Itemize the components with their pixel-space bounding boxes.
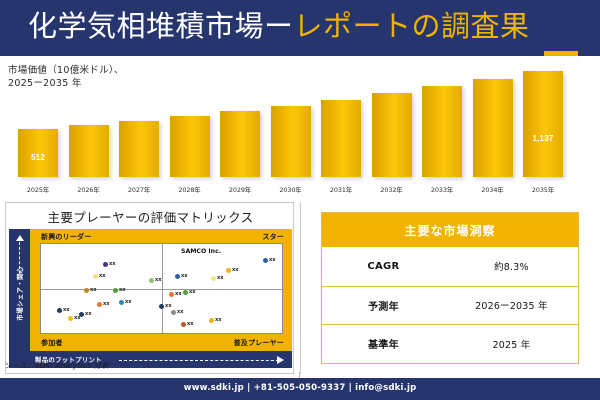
x-axis-tick-label: 2025年 [18,185,58,194]
matrix-horizontal-divider [41,289,282,290]
bar-value-label: 512 [18,153,58,162]
matrix-data-point-label: xx [189,289,195,295]
matrix-data-point [119,300,124,305]
matrix-data-point [175,274,180,279]
matrix-data-point-label: xx [175,291,181,297]
insights-table-row: 基準年2025 年 [322,324,578,363]
x-axis-tick-label: 2028年 [170,185,210,194]
arrow-right-icon [277,356,284,364]
matrix-gold-band: 新興のリーダー スター 参加者 普及プレーヤー SAMCO Inc. xxxxx… [30,229,292,351]
x-axis-dashed-line [119,360,279,361]
bar-column: 2029年 [220,111,260,177]
matrix-data-point-label: xx [103,301,109,307]
page-title-primary: 化学気相堆積市場ー [28,9,294,43]
insights-row-key: 基準年 [322,336,445,351]
insights-row-key: 予測年 [322,298,445,313]
bar-column: 5122025年 [18,129,58,177]
market-value-bar-chart: 市場価値（10億米ドル）、 2025ー2035 年 5122025年2026年2… [0,56,600,196]
bar [220,111,260,177]
matrix-data-point [183,290,188,295]
key-market-insights-panel: 主要な市場洞察 CAGR約8.3%予測年2026ー2035 年基準年2025 年 [300,202,596,374]
matrix-data-point-label: xx [155,277,161,283]
matrix-data-point-label: xx [85,311,91,317]
matrix-data-point [169,292,174,297]
matrix-data-point [113,288,118,293]
matrix-y-axis-label: 市場シェア・関心 [15,241,24,346]
bar-column: 1,1372035年 [523,71,563,177]
insights-row-value: 2026ー2035 年 [445,298,578,312]
insights-table-row: CAGR約8.3% [322,247,578,286]
x-axis-tick-label: 2034年 [473,185,513,194]
x-axis-tick-label: 2031年 [321,185,361,194]
bar [119,121,159,177]
bar-column: 2026年 [69,125,109,177]
bar-column: 2028年 [170,116,210,177]
matrix-data-point [209,318,214,323]
matrix-data-point [93,274,98,279]
bar [523,71,563,177]
insights-table-row: 予測年2026ー2035 年 [322,286,578,325]
insights-table-header: 主要な市場洞察 [322,213,578,247]
matrix-data-point-label: xx [232,267,238,273]
insights-table-body: CAGR約8.3%予測年2026ー2035 年基準年2025 年 [322,247,578,363]
matrix-highlight-label: SAMCO Inc. [181,248,221,255]
matrix-data-point-label: xx [99,273,105,279]
bar [372,93,412,177]
x-axis-tick-label: 2026年 [69,185,109,194]
matrix-data-point [103,262,108,267]
matrix-data-point-label: xx [215,317,221,323]
x-axis-tick-label: 2033年 [422,185,462,194]
bar [321,100,361,177]
quadrant-label-participant: 参加者 [41,338,63,348]
bar-column: 2032年 [372,93,412,177]
matrix-frame: 新興のリーダー スター 参加者 普及プレーヤー SAMCO Inc. xxxxx… [9,229,292,351]
matrix-data-point-label: xx [217,275,223,281]
matrix-title: 主要プレーヤーの評価マトリックス [6,207,295,226]
matrix-data-point [79,312,84,317]
matrix-data-point-label: xx [177,309,183,315]
matrix-data-point-label: xx [125,299,131,305]
matrix-data-point-label: xx [90,287,96,293]
bar [473,79,513,177]
x-axis-tick-label: 2027年 [119,185,159,194]
bar-column: 2030年 [271,106,311,177]
matrix-data-point-label: xx [109,261,115,267]
matrix-data-point-label: xx [63,307,69,313]
matrix-data-point [149,278,154,283]
page-title: 化学気相堆積市場ーレポートの調査果 [28,7,530,45]
quadrant-label-emerging-leader: 新興のリーダー [41,232,91,242]
insights-row-value: 2025 年 [445,337,578,351]
source-note: ソース：SDKI Analytics 分析 [4,360,109,371]
matrix-data-point-label: xx [181,273,187,279]
matrix-data-point [68,316,73,321]
matrix-y-axis-strip: 市場シェア・関心 [9,229,30,368]
bar [422,86,462,177]
bar [271,106,311,177]
quadrant-label-star: スター [262,232,284,242]
matrix-data-point [97,302,102,307]
page-footer: www.sdki.jp | +81-505-050-9337 | info@sd… [0,378,600,400]
insights-table: 主要な市場洞察 CAGR約8.3%予測年2026ー2035 年基準年2025 年 [321,212,579,364]
matrix-data-point [159,304,164,309]
matrix-data-point-label: xx [165,303,171,309]
bar [170,116,210,177]
bar [69,125,109,177]
page-title-accent: レポートの調査果 [294,9,530,43]
chart-bars-container: 5122025年2026年2027年2028年2029年2030年2031年20… [18,56,590,196]
bar-column: 2031年 [321,100,361,177]
matrix-data-point [171,310,176,315]
x-axis-tick-label: 2032年 [372,185,412,194]
matrix-data-point [211,276,216,281]
matrix-data-point [57,308,62,313]
bar-column: 2033年 [422,86,462,177]
insights-row-value: 約8.3% [445,259,578,273]
bar-column: 2027年 [119,121,159,177]
matrix-data-point-label: xx [187,321,193,327]
bar-value-label: 1,137 [523,134,563,143]
matrix-data-point [181,322,186,327]
page-header: 化学気相堆積市場ーレポートの調査果 [0,0,600,56]
bar-column: 2034年 [473,79,513,177]
matrix-data-point [84,288,89,293]
quadrant-label-pervasive-player: 普及プレーヤー [234,338,284,348]
x-axis-tick-label: 2029年 [220,185,260,194]
matrix-data-point-label: xx [119,287,125,293]
matrix-data-point-label: xx [269,257,275,263]
matrix-data-point [226,268,231,273]
insights-header-label: 主要な市場洞察 [404,222,495,239]
matrix-data-point [263,258,268,263]
matrix-plot-area: SAMCO Inc. xxxxxxxxxxxxxxxxxxxxxxxxxxxxx… [40,243,283,334]
x-axis-tick-label: 2035年 [523,185,563,194]
insights-row-key: CAGR [322,261,445,272]
x-axis-tick-label: 2030年 [271,185,311,194]
footer-contact-text: www.sdki.jp | +81-505-050-9337 | info@sd… [0,383,600,393]
player-evaluation-matrix-panel: 主要プレーヤーの評価マトリックス 新興のリーダー スター 参加者 普及プレーヤー… [5,202,294,374]
